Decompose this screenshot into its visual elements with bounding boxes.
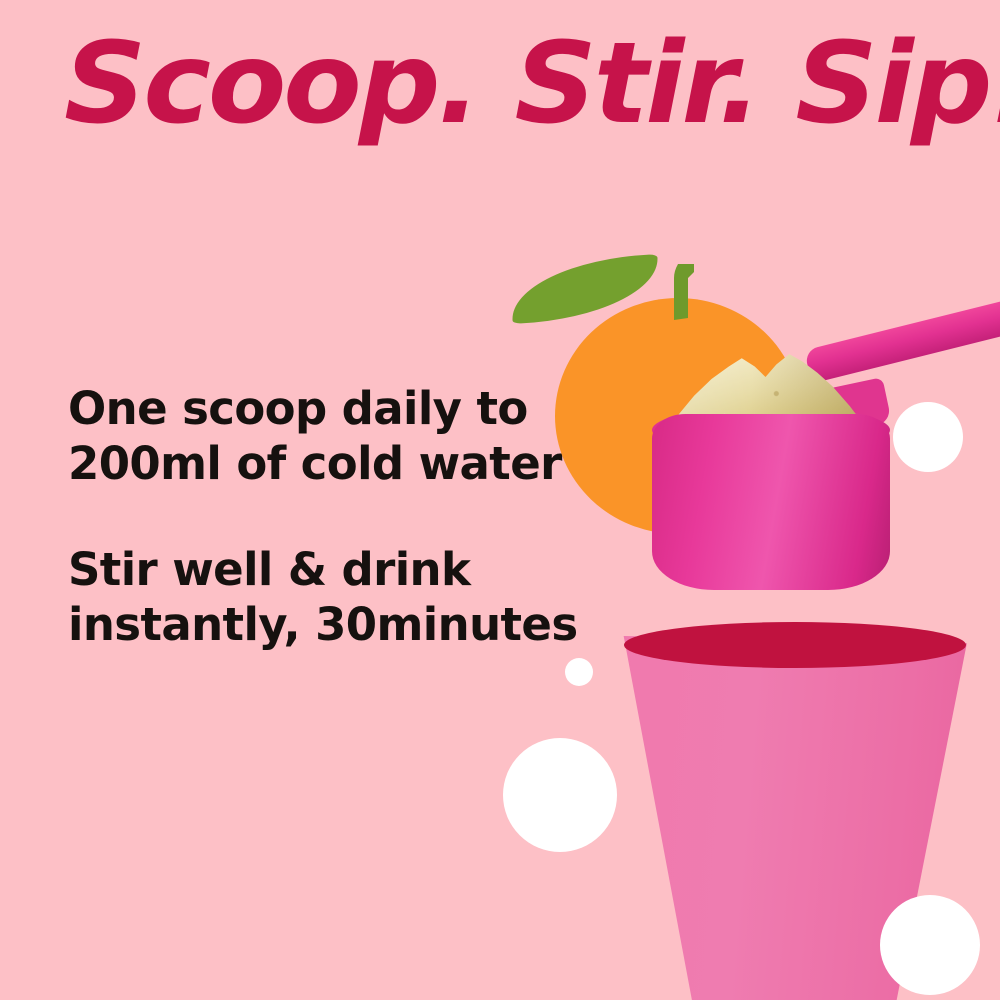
bubble-large-left-icon xyxy=(503,738,617,852)
bubble-bottom-right-icon xyxy=(880,895,980,995)
bubble-handle-icon xyxy=(893,402,963,472)
decorative-bubble-layer xyxy=(0,0,1000,1000)
promo-poster: Scoop. Stir. Sip! One scoop daily to 200… xyxy=(0,0,1000,1000)
bubble-small-left-icon xyxy=(565,658,593,686)
